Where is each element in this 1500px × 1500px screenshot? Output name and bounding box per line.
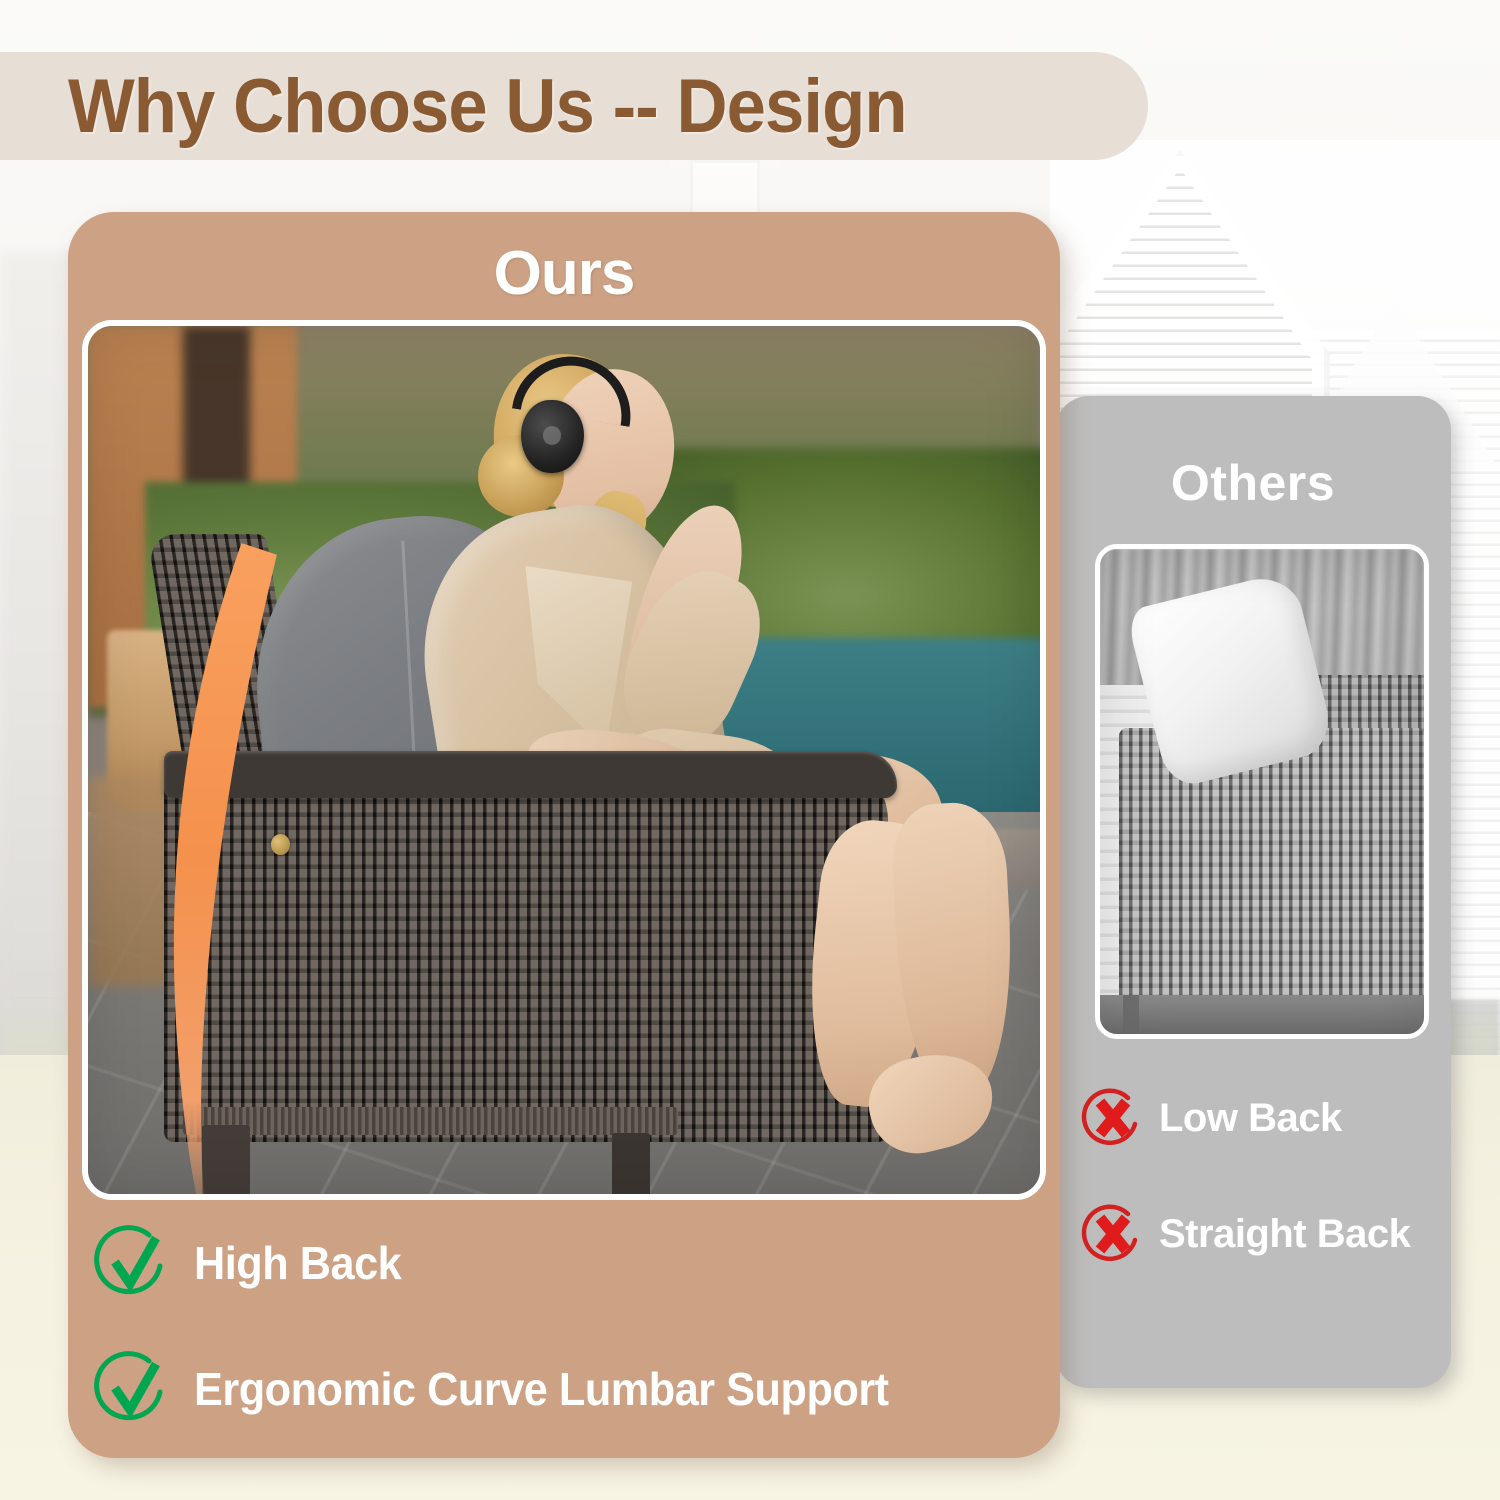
page-title: Why Choose Us -- Design — [68, 63, 907, 150]
others-feature-item-1: Straight Back — [1081, 1202, 1441, 1266]
ours-feature-list: High Back Ergonomic Curve Lumbar Support — [94, 1224, 1054, 1476]
others-heading: Others — [1055, 454, 1451, 512]
ours-feature-item-0: High Back — [94, 1224, 1054, 1302]
others-feature-list: Low Back Straight Back — [1081, 1086, 1441, 1318]
ours-product-photo — [82, 320, 1046, 1200]
cross-circle-icon — [1081, 1086, 1145, 1150]
others-photo-floor — [1100, 995, 1424, 1034]
title-banner: Why Choose Us -- Design — [0, 52, 1148, 160]
ours-photo-chair-arm-rail — [164, 751, 897, 798]
others-feature-label: Straight Back — [1159, 1212, 1410, 1257]
ours-heading: Ours — [68, 238, 1060, 309]
cross-circle-icon — [1081, 1202, 1145, 1266]
others-photo-sofa-body — [1119, 728, 1424, 1009]
ours-photo-chair-leg-rear — [612, 1133, 650, 1200]
headphones-earcup-icon — [521, 400, 584, 473]
ours-feature-item-1: Ergonomic Curve Lumbar Support — [94, 1350, 1054, 1428]
ours-feature-label: High Back — [194, 1236, 401, 1290]
ours-photo-chair-leg-front — [202, 1125, 250, 1200]
check-circle-icon — [94, 1224, 172, 1302]
others-comparison-panel: Others Low Back — [1055, 396, 1451, 1388]
others-feature-label: Low Back — [1159, 1096, 1342, 1141]
ours-photo-chair-wicker-body — [164, 760, 888, 1142]
check-circle-icon — [94, 1350, 172, 1428]
ours-photo-chair-base-rail — [183, 1107, 678, 1135]
ours-photo-chair-brass-screw — [271, 834, 290, 855]
others-feature-item-0: Low Back — [1081, 1086, 1441, 1150]
ours-feature-label: Ergonomic Curve Lumbar Support — [194, 1362, 889, 1416]
others-product-photo — [1095, 544, 1429, 1039]
others-photo-sofa-leg — [1123, 995, 1139, 1034]
ours-comparison-panel: Ours — [68, 212, 1060, 1458]
